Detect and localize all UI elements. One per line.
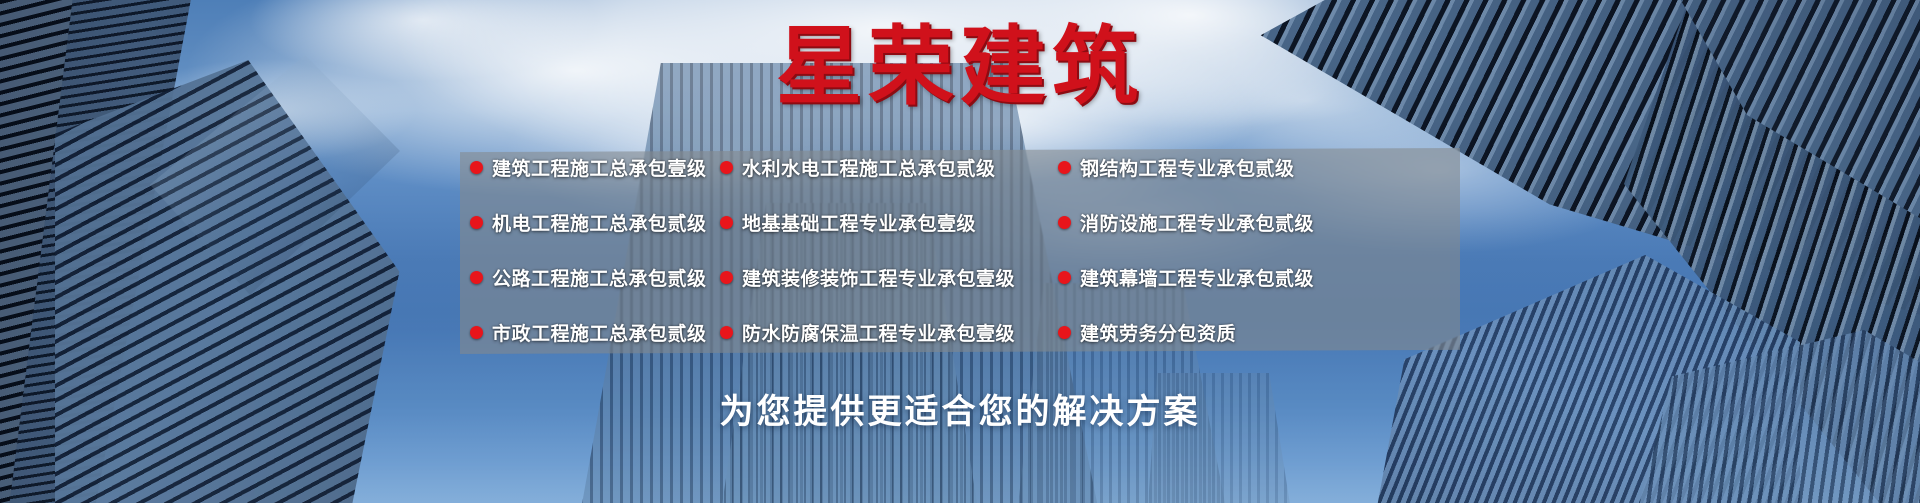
qualification-item: 公路工程施工总承包贰级 bbox=[470, 250, 682, 305]
bullet-dot-icon bbox=[1058, 271, 1071, 284]
qualification-label: 地基基础工程专业承包壹级 bbox=[742, 209, 976, 236]
bullet-dot-icon bbox=[1058, 161, 1071, 174]
bullet-dot-icon bbox=[1058, 326, 1071, 339]
qualification-label: 防水防腐保温工程专业承包壹级 bbox=[742, 319, 1015, 346]
qualification-label: 水利水电工程施工总承包贰级 bbox=[742, 154, 996, 181]
qualification-label: 消防设施工程专业承包贰级 bbox=[1080, 209, 1314, 236]
bullet-dot-icon bbox=[720, 326, 733, 339]
bullet-dot-icon bbox=[470, 216, 483, 229]
qualification-label: 建筑装修装饰工程专业承包壹级 bbox=[742, 264, 1015, 291]
qualification-item: 水利水电工程施工总承包贰级 bbox=[720, 140, 1020, 195]
tagline: 为您提供更适合您的解决方案 bbox=[0, 384, 1920, 433]
qualification-item: 建筑工程施工总承包壹级 bbox=[470, 140, 682, 195]
qualification-item: 建筑装修装饰工程专业承包壹级 bbox=[720, 250, 1020, 305]
bullet-dot-icon bbox=[470, 161, 483, 174]
qualification-item: 钢结构工程专业承包贰级 bbox=[1058, 140, 1480, 195]
bullet-dot-icon bbox=[470, 271, 483, 284]
qualification-label: 建筑工程施工总承包壹级 bbox=[492, 154, 707, 181]
qualification-label: 市政工程施工总承包贰级 bbox=[492, 319, 707, 346]
qualification-item: 建筑幕墙工程专业承包贰级 bbox=[1058, 250, 1480, 305]
qualification-label: 建筑劳务分包资质 bbox=[1080, 319, 1236, 346]
qualifications-grid: 建筑工程施工总承包壹级 水利水电工程施工总承包贰级 钢结构工程专业承包贰级 机电… bbox=[470, 140, 1480, 360]
qualification-label: 建筑幕墙工程专业承包贰级 bbox=[1080, 264, 1314, 291]
qualification-label: 公路工程施工总承包贰级 bbox=[492, 264, 707, 291]
qualification-item: 防水防腐保温工程专业承包壹级 bbox=[720, 305, 1020, 360]
page-title: 星荣建筑 bbox=[0, 24, 1920, 110]
bullet-dot-icon bbox=[720, 161, 733, 174]
qualification-item: 市政工程施工总承包贰级 bbox=[470, 305, 682, 360]
bullet-dot-icon bbox=[720, 216, 733, 229]
hero-banner: 星荣建筑 建筑工程施工总承包壹级 水利水电工程施工总承包贰级 钢结构工程专业承包… bbox=[0, 0, 1920, 503]
qualification-item: 消防设施工程专业承包贰级 bbox=[1058, 195, 1480, 250]
qualification-item: 地基基础工程专业承包壹级 bbox=[720, 195, 1020, 250]
qualification-item: 机电工程施工总承包贰级 bbox=[470, 195, 682, 250]
bullet-dot-icon bbox=[720, 271, 733, 284]
qualification-item: 建筑劳务分包资质 bbox=[1058, 305, 1480, 360]
bullet-dot-icon bbox=[1058, 216, 1071, 229]
qualification-label: 机电工程施工总承包贰级 bbox=[492, 209, 707, 236]
qualification-label: 钢结构工程专业承包贰级 bbox=[1080, 154, 1295, 181]
bullet-dot-icon bbox=[470, 326, 483, 339]
